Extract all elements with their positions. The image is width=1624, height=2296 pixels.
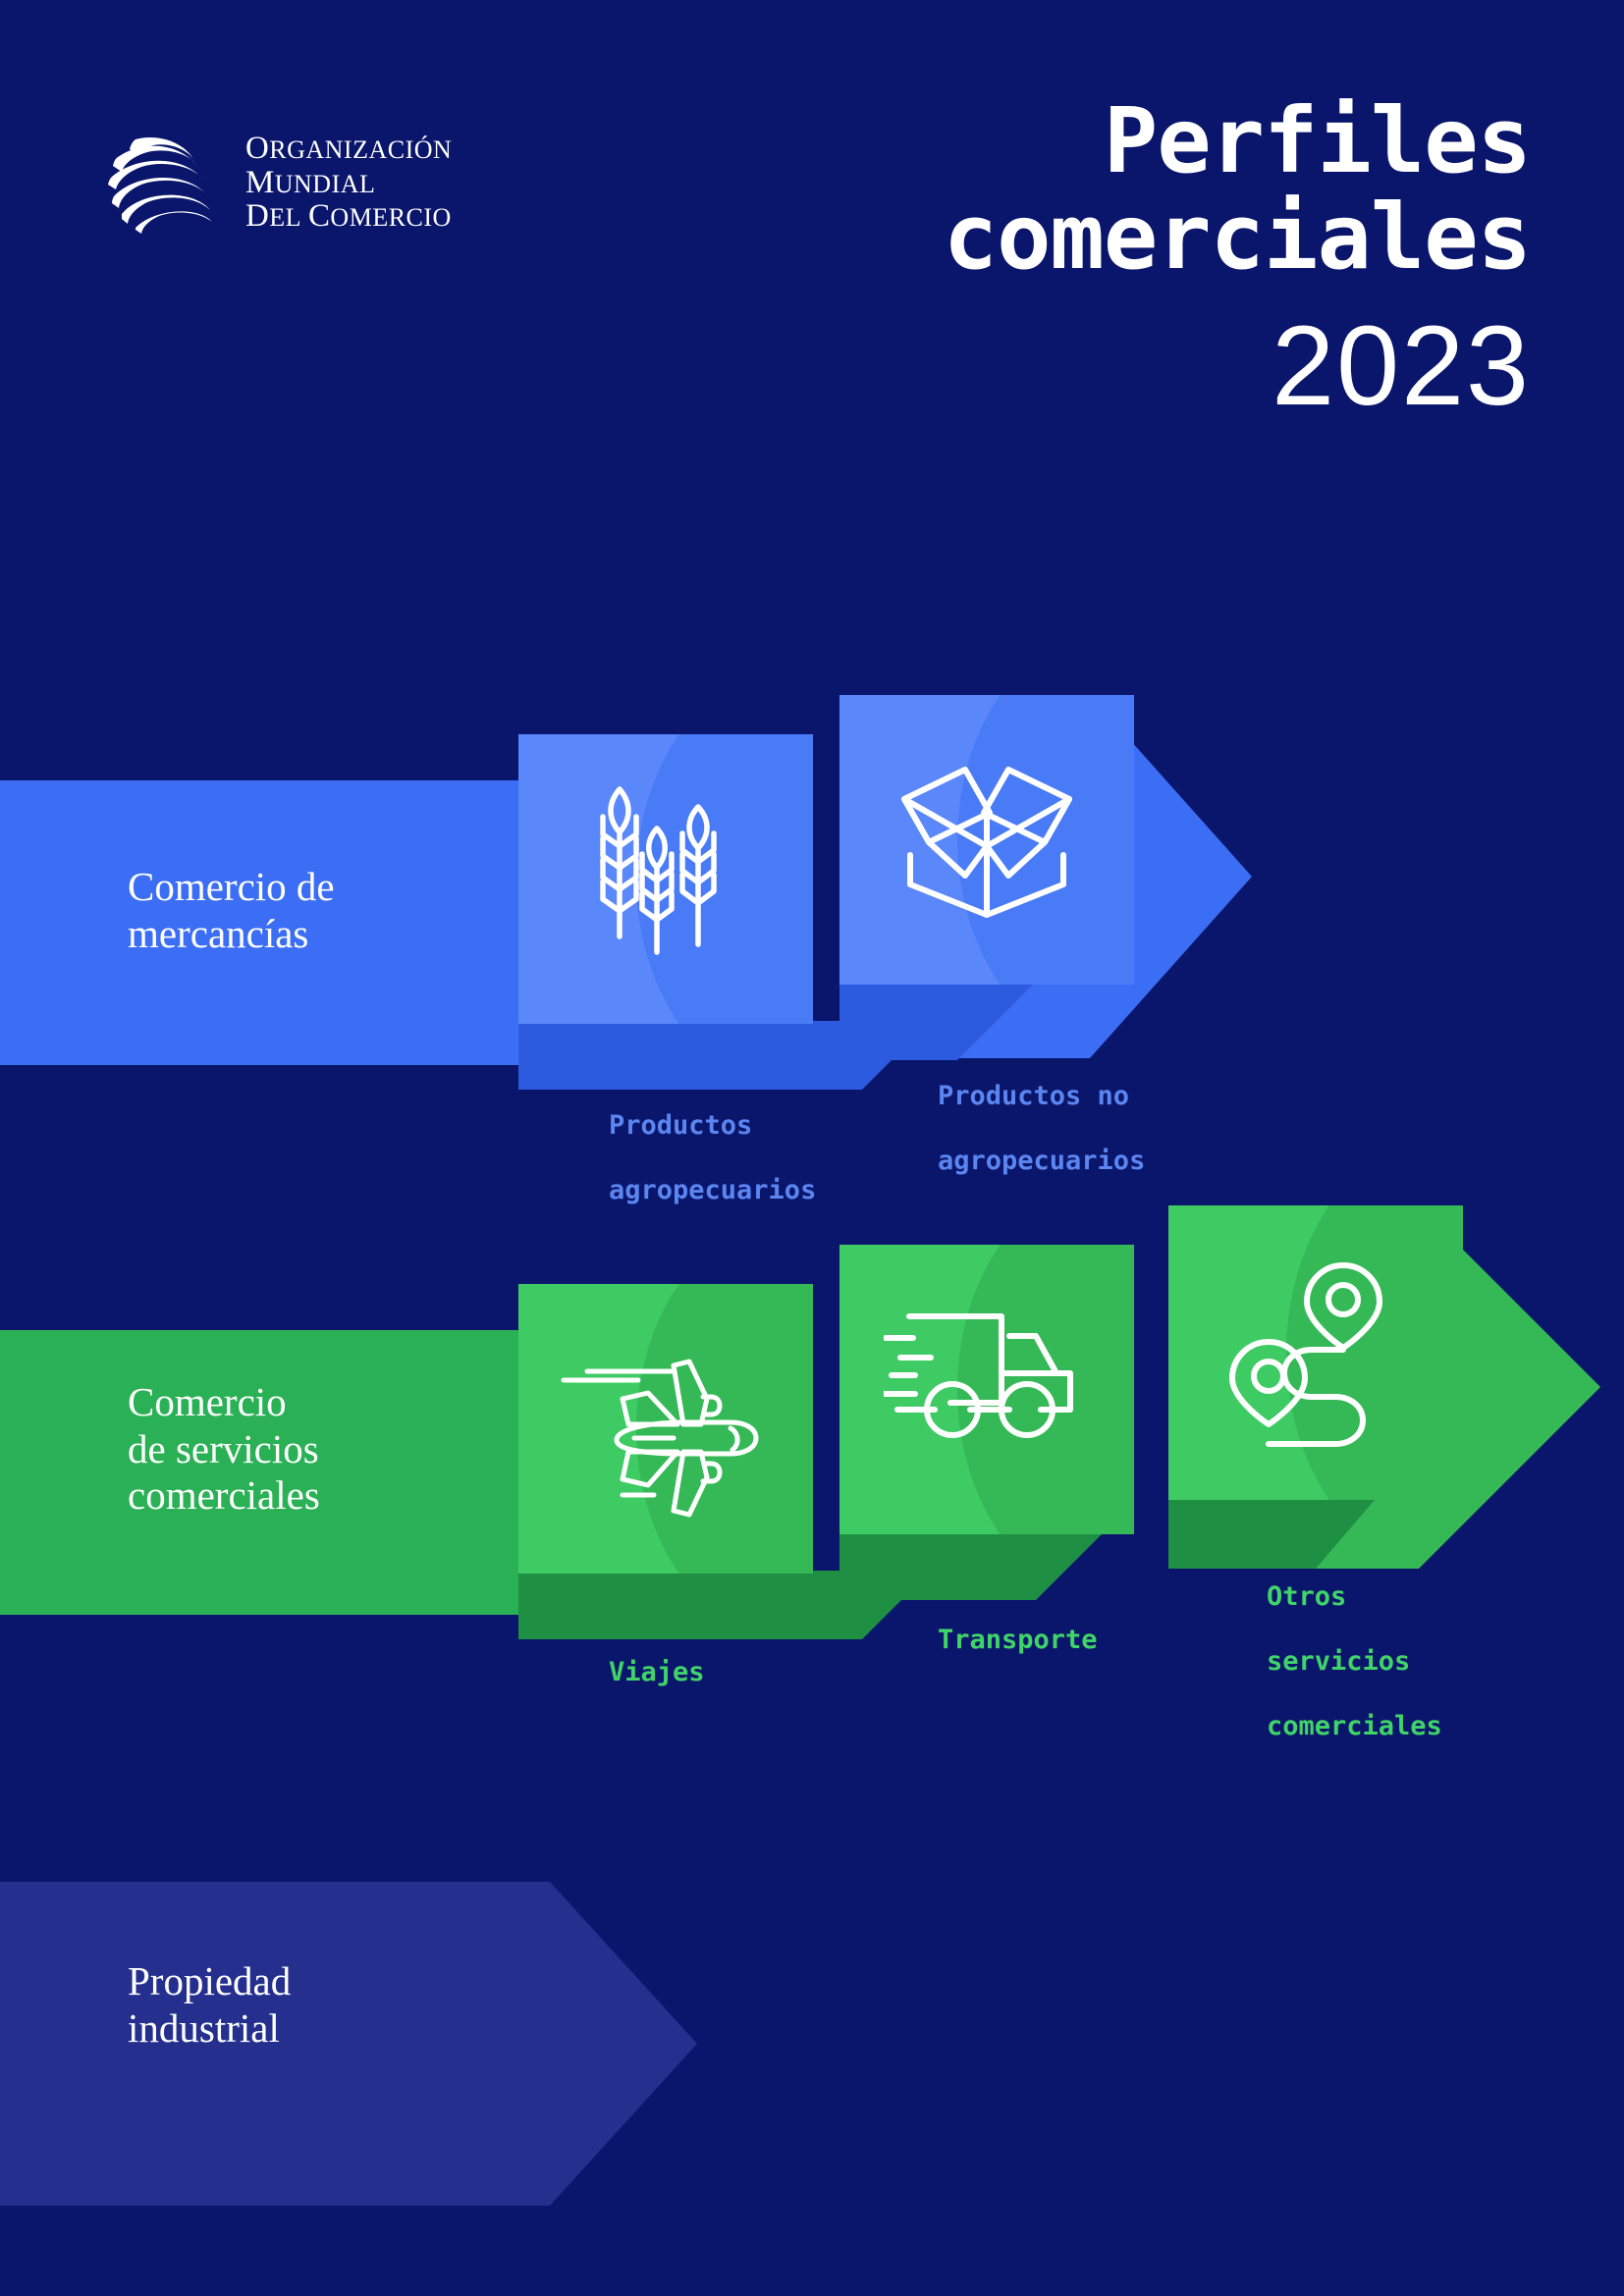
- band-ip-label-line2: industrial: [128, 2005, 540, 2053]
- band-ip: Propiedad industrial: [0, 0, 1624, 2296]
- band-ip-arrow-tip: [520, 1882, 697, 2206]
- band-ip-label: Propiedad industrial: [128, 1958, 540, 2052]
- band-ip-label-line1: Propiedad: [128, 1958, 540, 2005]
- cover-page: ORGANIZACIÓN MUNDIAL DEL COMERCIO Perfil…: [0, 0, 1624, 2296]
